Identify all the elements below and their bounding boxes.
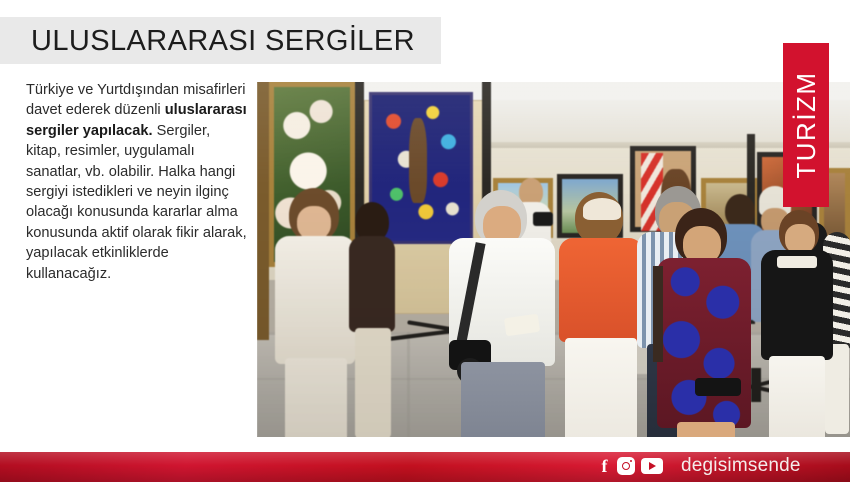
category-tab-label: TURİZM	[790, 42, 822, 208]
instagram-icon[interactable]	[617, 457, 635, 475]
exhibition-photo	[257, 82, 850, 437]
photo-floor-seam	[407, 332, 410, 437]
social-links: f degisimsende	[598, 456, 801, 476]
photo-visitor	[755, 210, 841, 436]
category-tab-turizm[interactable]: TURİZM	[783, 43, 829, 207]
facebook-icon[interactable]: f	[598, 457, 611, 475]
photo-handbag	[695, 378, 741, 396]
photo-main-visitor	[443, 190, 561, 437]
youtube-icon[interactable]	[641, 458, 663, 474]
photo-visitor	[343, 202, 401, 434]
photo-foreground-visitor	[655, 208, 761, 437]
page-title: ULUSLARARASI SERGİLER	[31, 20, 451, 62]
body-text-rest: Sergiler, kitap, resimler, uygulamalı sa…	[26, 123, 247, 282]
brand-handle: degisimsende	[681, 456, 801, 476]
slide: ULUSLARARASI SERGİLER Türkiye ve Yurtdış…	[0, 0, 850, 482]
body-paragraph: Türkiye ve Yurtdışından misafirleri dave…	[26, 80, 248, 284]
